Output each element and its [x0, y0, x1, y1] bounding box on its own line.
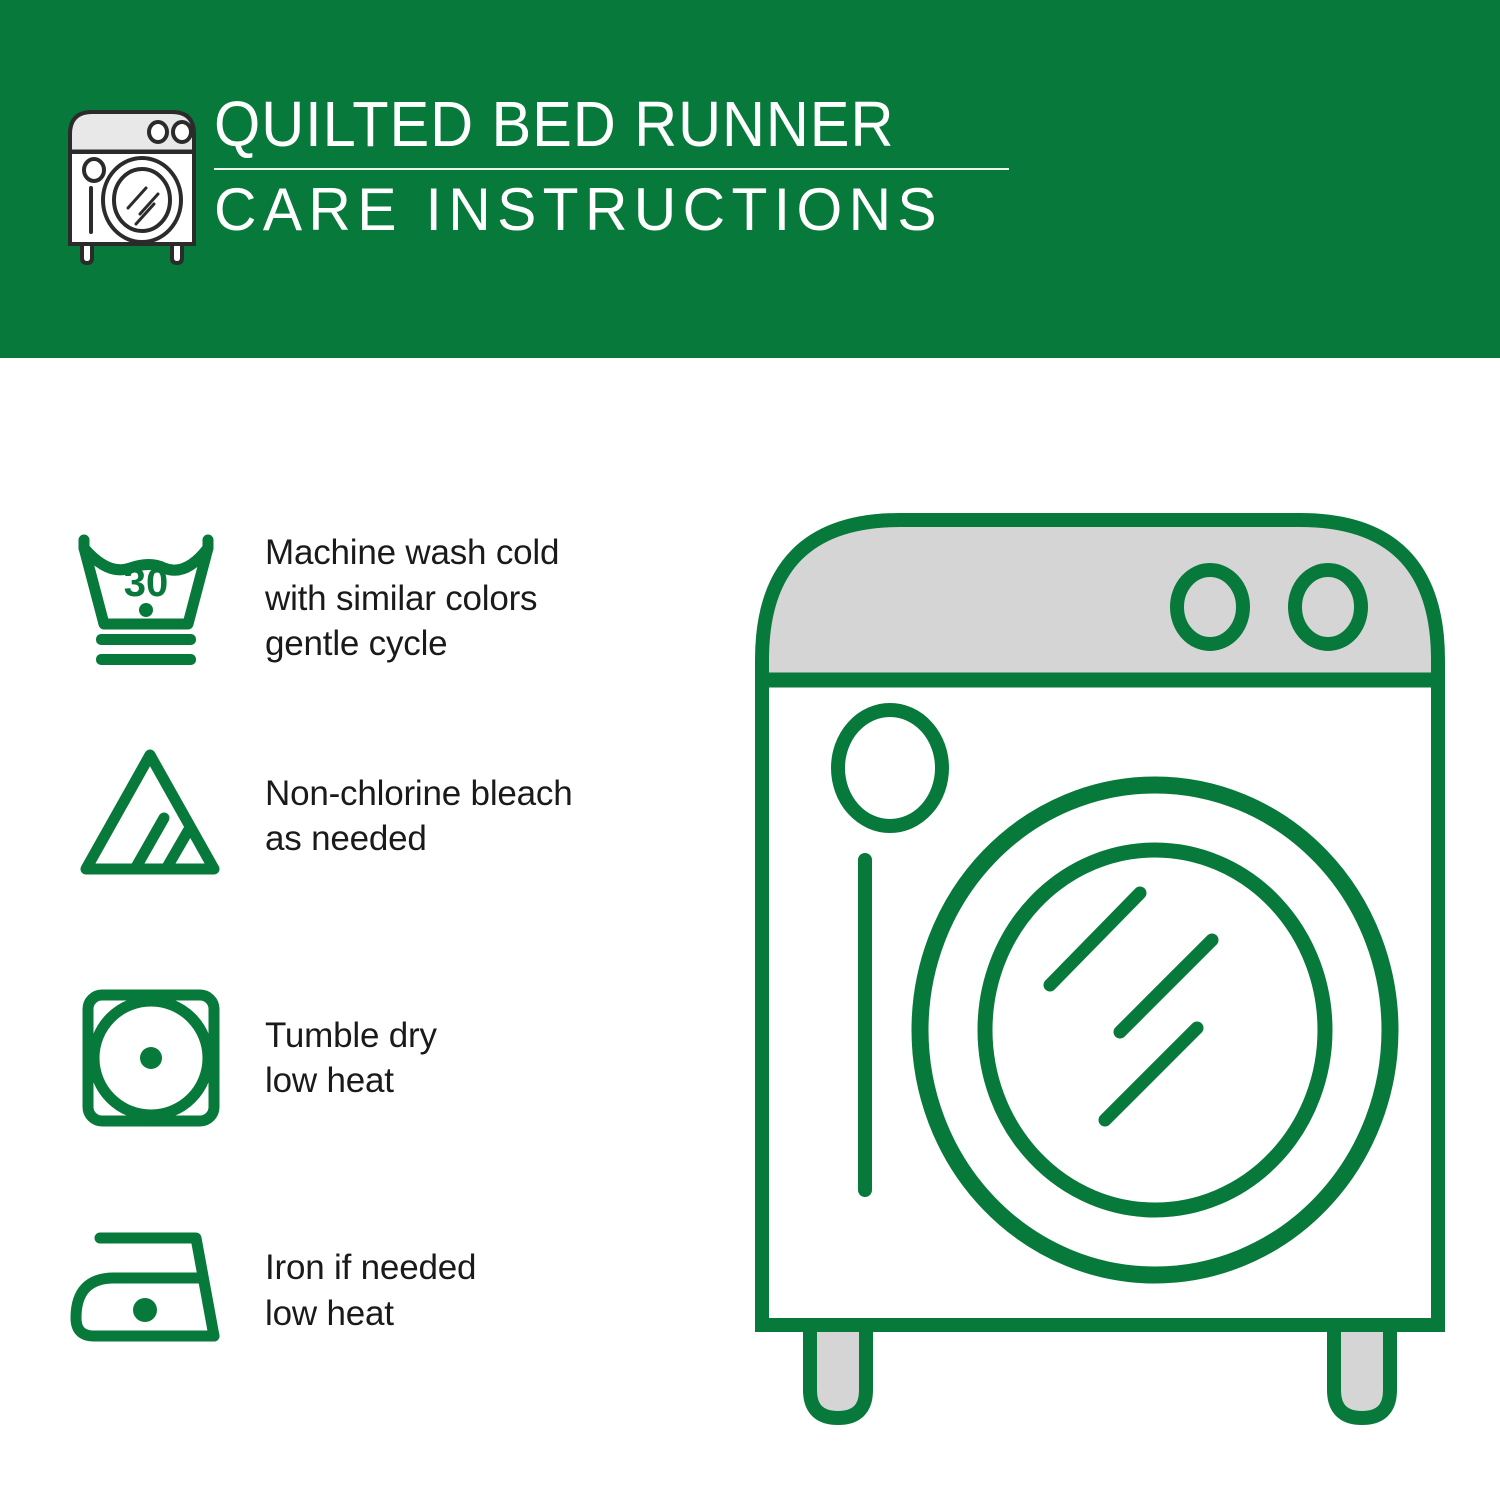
care-item-bleach-label: Non-chlorine bleach as needed — [265, 771, 573, 862]
care-item-tumble-dry-label: Tumble dry low heat — [265, 1013, 437, 1104]
page-subtitle: CARE INSTRUCTIONS — [214, 178, 998, 241]
tumble-dry-low-icon — [68, 976, 233, 1141]
control-panel — [762, 520, 1438, 680]
machine-wash-30-icon: 30 — [68, 516, 233, 681]
non-chlorine-bleach-icon — [68, 734, 233, 899]
care-item-machine-wash-label: Machine wash cold with similar colors ge… — [265, 530, 559, 667]
machine-leg-left — [810, 1325, 866, 1418]
washing-machine-illustration — [700, 470, 1500, 1450]
header-banner: QUILTED BED RUNNER CARE INSTRUCTIONS — [0, 0, 1500, 358]
wash-temperature-label: 30 — [124, 561, 169, 605]
care-item-machine-wash: 30 Machine wash cold with similar colors… — [0, 506, 680, 691]
washing-machine-logo-icon — [62, 104, 202, 266]
care-item-tumble-dry: Tumble dry low heat — [0, 978, 680, 1138]
iron-low-heat-icon — [68, 1208, 233, 1373]
page-title: QUILTED BED RUNNER — [214, 92, 958, 166]
title-divider — [214, 168, 1009, 170]
machine-leg-right — [1334, 1325, 1390, 1418]
care-instructions-list: 30 Machine wash cold with similar colors… — [0, 358, 680, 1500]
header-text-block: QUILTED BED RUNNER CARE INSTRUCTIONS — [214, 92, 1014, 241]
care-item-iron-label: Iron if needed low heat — [265, 1245, 476, 1336]
care-item-iron: Iron if needed low heat — [0, 1213, 680, 1368]
care-item-bleach: Non-chlorine bleach as needed — [0, 736, 680, 896]
